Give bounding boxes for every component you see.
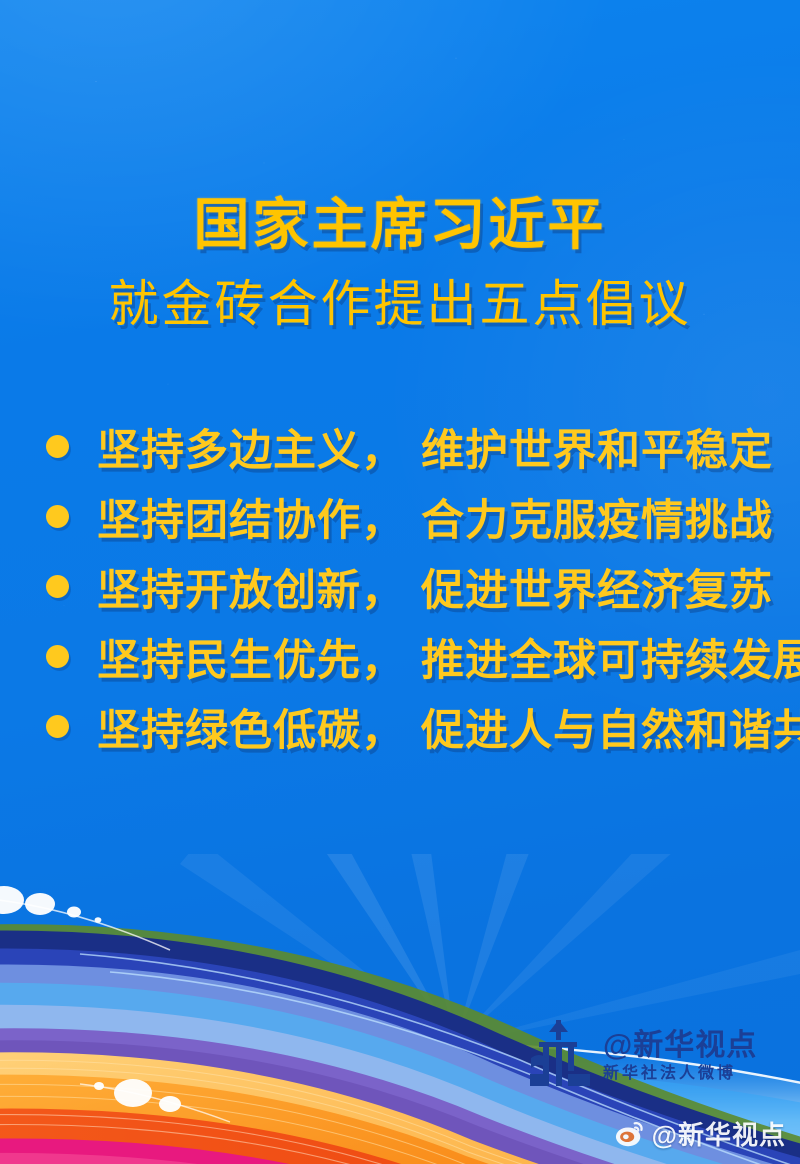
watermark-text: @新华视点 xyxy=(652,1115,786,1152)
bullet-dot-icon xyxy=(46,645,69,668)
poster-canvas: 国家主席习近平 就金砖合作提出五点倡议 坚持多边主义，维护世界和平稳定 坚持团结… xyxy=(0,0,800,1164)
list-item: 坚持多边主义，维护世界和平稳定 xyxy=(46,412,800,482)
headline-block: 国家主席习近平 就金砖合作提出五点倡议 xyxy=(0,0,800,332)
logo-tagline: 新华社法人微博 xyxy=(603,1066,757,1082)
bullet-dot-icon xyxy=(46,435,69,458)
list-item: 坚持民生优先，推进全球可持续发展 xyxy=(46,622,800,692)
logo-name: @新华视点 xyxy=(603,1031,757,1061)
weibo-icon xyxy=(615,1119,645,1149)
list-item: 坚持开放创新，促进世界经济复苏 xyxy=(46,552,800,622)
list-item: 坚持团结协作，合力克服疫情挑战 xyxy=(46,482,800,552)
xinhua-logo-mark-icon xyxy=(527,1018,593,1086)
bullet-dot-icon xyxy=(46,575,69,598)
list-item-label: 坚持绿色低碳，促进人与自然和谐共生 xyxy=(97,696,800,758)
proposal-list: 坚持多边主义，维护世界和平稳定 坚持团结协作，合力克服疫情挑战 坚持开放创新，促… xyxy=(0,412,800,762)
poster-content: 国家主席习近平 就金砖合作提出五点倡议 坚持多边主义，维护世界和平稳定 坚持团结… xyxy=(0,0,800,762)
weibo-watermark: @新华视点 xyxy=(615,1115,786,1152)
xinhua-logo: @新华视点 新华社法人微博 xyxy=(527,1018,757,1086)
bullet-dot-icon xyxy=(46,505,69,528)
list-item: 坚持绿色低碳，促进人与自然和谐共生 xyxy=(46,692,800,762)
list-item-label: 坚持民生优先，推进全球可持续发展 xyxy=(97,626,800,688)
list-item-label: 坚持多边主义，维护世界和平稳定 xyxy=(97,416,773,478)
list-item-label: 坚持开放创新，促进世界经济复苏 xyxy=(97,556,773,618)
page-subtitle: 就金砖合作提出五点倡议 xyxy=(0,277,800,332)
page-title: 国家主席习近平 xyxy=(0,196,800,255)
list-item-label: 坚持团结协作，合力克服疫情挑战 xyxy=(97,486,773,548)
logo-text-block: @新华视点 新华社法人微博 xyxy=(603,1031,757,1086)
bullet-dot-icon xyxy=(46,715,69,738)
